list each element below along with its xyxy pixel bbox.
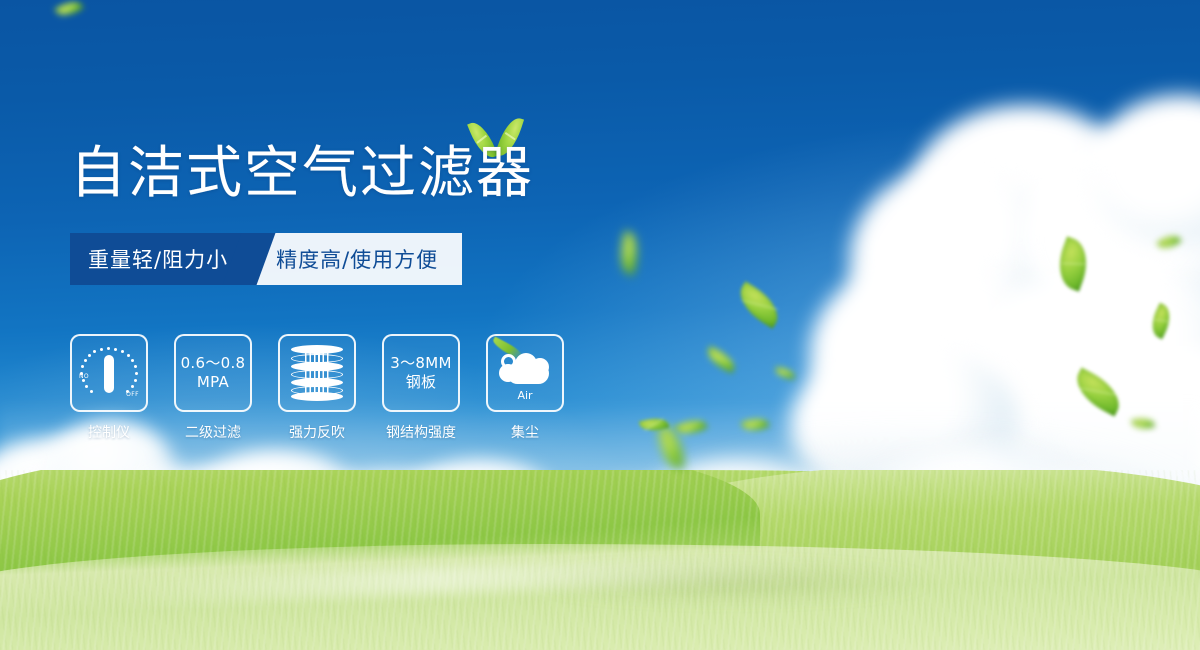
feature-icon-box: NO OFF — [70, 334, 148, 412]
gauge-label-off: OFF — [126, 391, 139, 398]
feature-label: 钢结构强度 — [386, 422, 456, 442]
feature-item-two-stage-filter[interactable]: 0.6～0.8 MPA 二级过滤 — [174, 334, 252, 442]
feature-item-dust-collection[interactable]: Air 集尘 — [486, 334, 564, 442]
page-title: 自洁式空气过滤器 — [70, 146, 534, 202]
steel-value-line2: 钢板 — [406, 373, 437, 392]
feature-icon-box: Air — [486, 334, 564, 412]
subtitle-bar: 重量轻/阻力小 精度高/使用方便 — [70, 233, 462, 285]
feature-item-back-blow[interactable]: 强力反吹 — [278, 334, 356, 442]
feature-icon-box — [278, 334, 356, 412]
pressure-value-line2: MPA — [197, 373, 229, 392]
feature-item-controller[interactable]: NO OFF 控制仪 — [70, 334, 148, 442]
feature-label: 控制仪 — [88, 422, 130, 442]
pressure-value-line1: 0.6～0.8 — [181, 354, 246, 373]
coil-icon — [291, 345, 343, 401]
subtitle-right: 精度高/使用方便 — [250, 233, 462, 285]
feature-label: 集尘 — [511, 422, 539, 442]
subtitle-left: 重量轻/阻力小 — [70, 233, 250, 285]
air-label: Air — [495, 389, 555, 402]
feature-icon-box: 3～8MM 钢板 — [382, 334, 460, 412]
feature-item-steel-strength[interactable]: 3～8MM 钢板 钢结构强度 — [382, 334, 460, 442]
steel-value-line1: 3～8MM — [390, 354, 451, 373]
feature-icon-box: 0.6～0.8 MPA — [174, 334, 252, 412]
gauge-icon: NO OFF — [80, 347, 138, 399]
feature-label: 二级过滤 — [185, 422, 241, 442]
grass-field — [0, 470, 1200, 650]
feature-label: 强力反吹 — [289, 422, 345, 442]
air-cloud-icon: Air — [495, 348, 555, 398]
feature-list: NO OFF 控制仪 0.6～0.8 MPA 二级过滤 — [70, 334, 564, 442]
gauge-label-no: NO — [79, 373, 89, 380]
product-banner: 自洁式空气过滤器 重量轻/阻力小 精度高/使用方便 — [0, 0, 1200, 650]
